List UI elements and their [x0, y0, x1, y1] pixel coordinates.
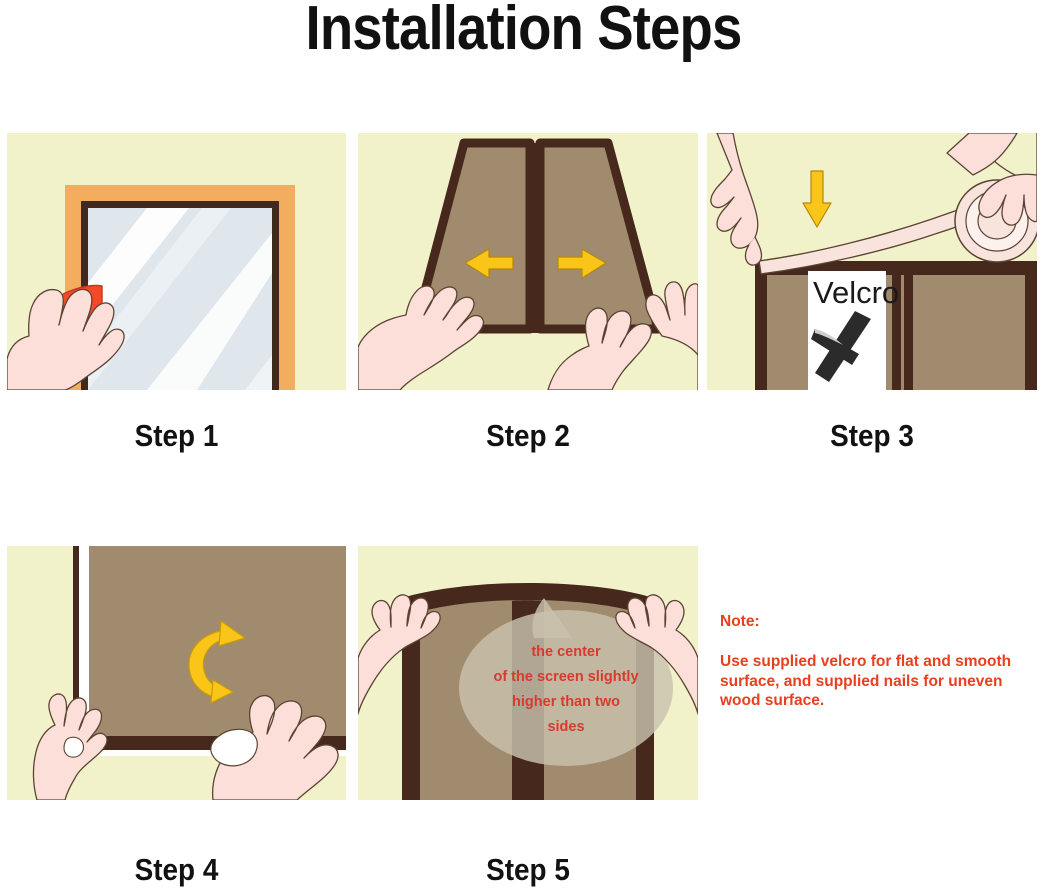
step-1-caption: Step 1 [24, 419, 329, 453]
note-heading: Note: [720, 612, 1030, 631]
screen-center-seam [528, 143, 542, 333]
step-1-illustration [7, 133, 346, 390]
step-5-caption: Step 5 [375, 853, 681, 887]
note-body: Use supplied velcro for flat and smooth … [720, 652, 1030, 711]
step-4-caption: Step 4 [24, 853, 329, 887]
step-2-caption: Step 2 [375, 419, 681, 453]
step-5-illustration: the center of the screen slightly higher… [358, 546, 698, 800]
step-3-illustration: Velcro [707, 133, 1037, 390]
bubble-line-3: higher than two [512, 694, 620, 710]
step-4-illustration [7, 546, 346, 800]
velcro-label-card: Velcro [808, 271, 899, 390]
page-title: Installation Steps [63, 0, 984, 62]
step-3-caption: Step 3 [724, 419, 1021, 453]
bubble-line-1: the center [531, 644, 601, 660]
bubble-line-4: sides [547, 719, 584, 735]
bubble-line-2: of the screen slightly [493, 669, 638, 685]
step-2-illustration [358, 133, 698, 390]
note-block: Note: Use supplied velcro for flat and s… [720, 612, 1030, 711]
velcro-label-text: Velcro [813, 275, 899, 310]
velcro-patch-left [64, 737, 84, 757]
